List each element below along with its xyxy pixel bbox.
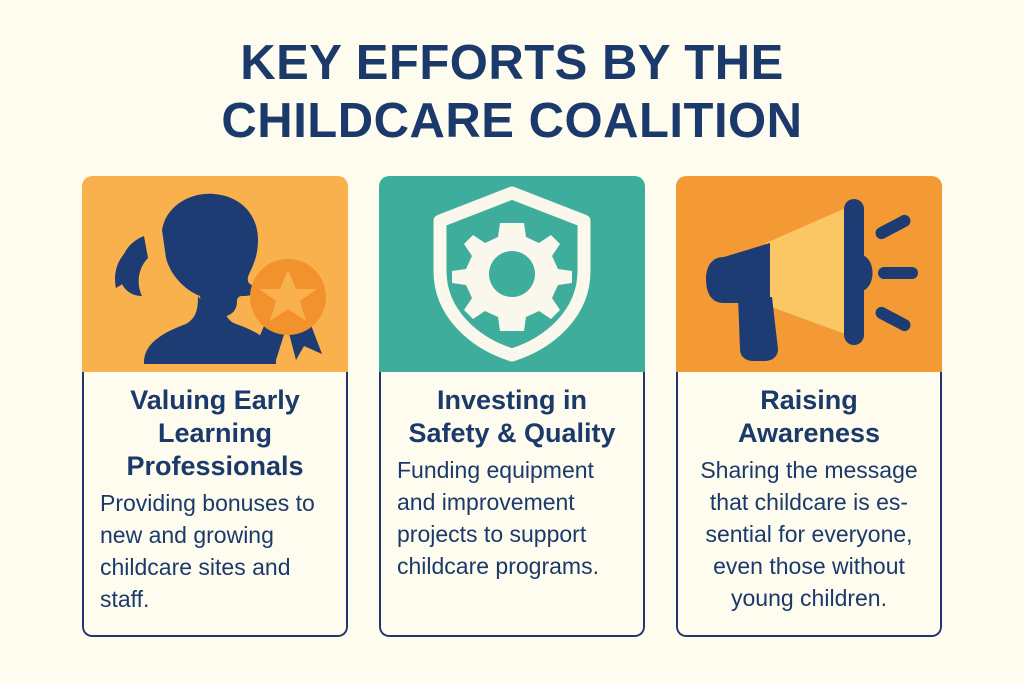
card-2-text: Funding equipment and improvement projec… [397,454,627,582]
card-raising-awareness: Raising Awareness Sharing the message th… [676,176,942,637]
page-title: KEY EFFORTS BY THE CHILDCARE COALITION [0,34,1024,150]
woman-with-award-medal-icon [100,184,330,364]
page-title-line-2: CHILDCARE COALITION [0,92,1024,150]
megaphone-icon [698,185,920,363]
card-2-icon-header [379,176,645,372]
card-3-icon-header [676,176,942,372]
card-1-text: Providing bonuses to new and growing chi… [100,487,330,615]
card-2-title: Investing in Safety & Quality [397,384,627,450]
card-3-text: Sharing the message that childcare is es… [694,454,924,614]
card-3-body: Raising Awareness Sharing the message th… [676,372,942,637]
card-2-body: Investing in Safety & Quality Funding eq… [379,372,645,637]
card-1-icon-header [82,176,348,372]
card-1-body: Valuing Early Learning Professionals Pro… [82,372,348,637]
card-investing-in-safety-and-quality: Investing in Safety & Quality Funding eq… [379,176,645,637]
card-3-title: Raising Awareness [694,384,924,450]
card-1-title: Valuing Early Learning Professionals [100,384,330,483]
page-title-line-1: KEY EFFORTS BY THE [0,34,1024,92]
infographic-poster: KEY EFFORTS BY THE CHILDCARE COALITION [0,0,1024,683]
cards-row: Valuing Early Learning Professionals Pro… [82,176,942,637]
card-valuing-early-learning-professionals: Valuing Early Learning Professionals Pro… [82,176,348,637]
shield-with-gear-icon [426,185,598,363]
